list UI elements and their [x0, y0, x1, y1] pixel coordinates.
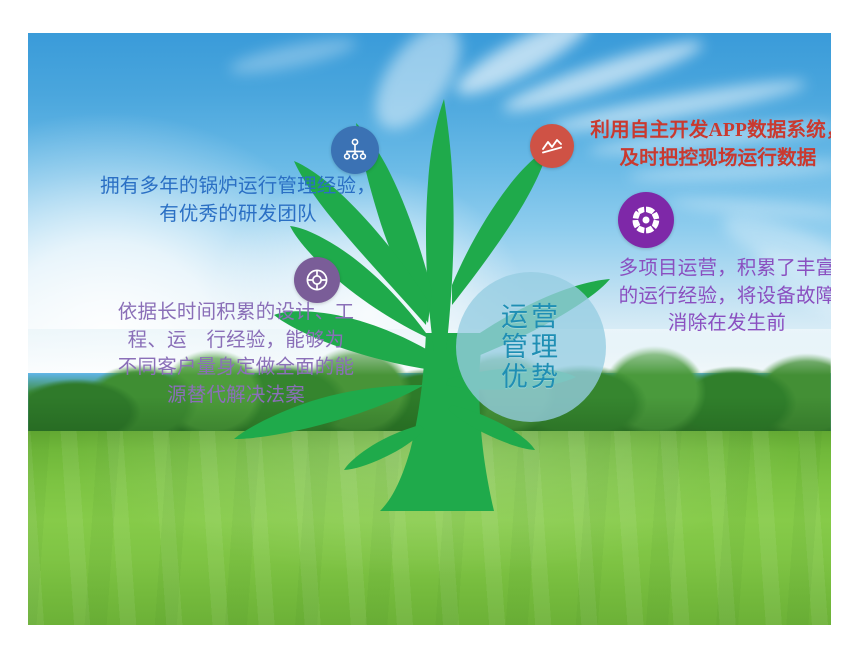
center-badge-line-3: 优势 [501, 362, 561, 392]
center-badge-line-2: 管理 [501, 332, 561, 362]
text-team-experience: 拥有多年的锅炉运行管理经验， 有优秀的研发团队 [88, 173, 388, 228]
photo-canvas: 运营 管理 优势 [28, 33, 831, 625]
org-chart-icon[interactable] [331, 126, 379, 174]
center-badge: 运营 管理 优势 [456, 272, 606, 422]
text-design-solutions: 依据长时间积累的设计、工 程、运 行经验，能够为 不同客户量身定做全面的能 源替… [76, 299, 396, 410]
globe-network-icon[interactable] [618, 192, 674, 248]
poster-page: 运营 管理 优势 [0, 0, 867, 661]
center-badge-line-1: 运营 [501, 302, 561, 332]
text-multi-project: 多项目运营，积累了丰富 的运行经验，将设备故障 消除在发生前 [593, 255, 831, 338]
lifebuoy-icon[interactable] [294, 257, 340, 303]
text-app-data-system: 利用自主开发APP数据系统， 及时把控现场运行数据 [568, 117, 831, 172]
